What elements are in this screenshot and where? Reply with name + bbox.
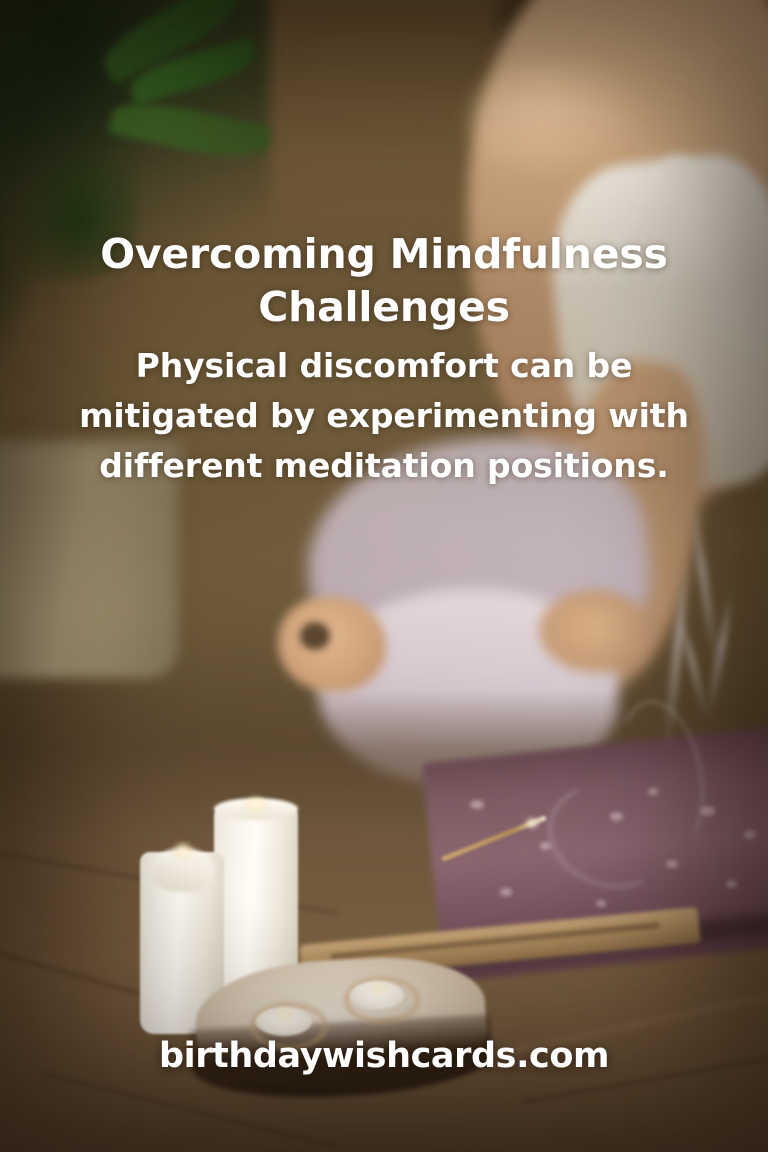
- meditation-quote-poster: Overcoming Mindfulness Challenges Physic…: [0, 0, 768, 1152]
- poster-subhead: Physical discomfort can be mitigated by …: [62, 341, 706, 491]
- text-overlay: Overcoming Mindfulness Challenges Physic…: [0, 0, 768, 1152]
- poster-headline: Overcoming Mindfulness Challenges: [62, 228, 706, 335]
- footer-website-url: birthdaywishcards.com: [0, 1036, 768, 1076]
- headline-block: Overcoming Mindfulness Challenges Physic…: [62, 228, 706, 491]
